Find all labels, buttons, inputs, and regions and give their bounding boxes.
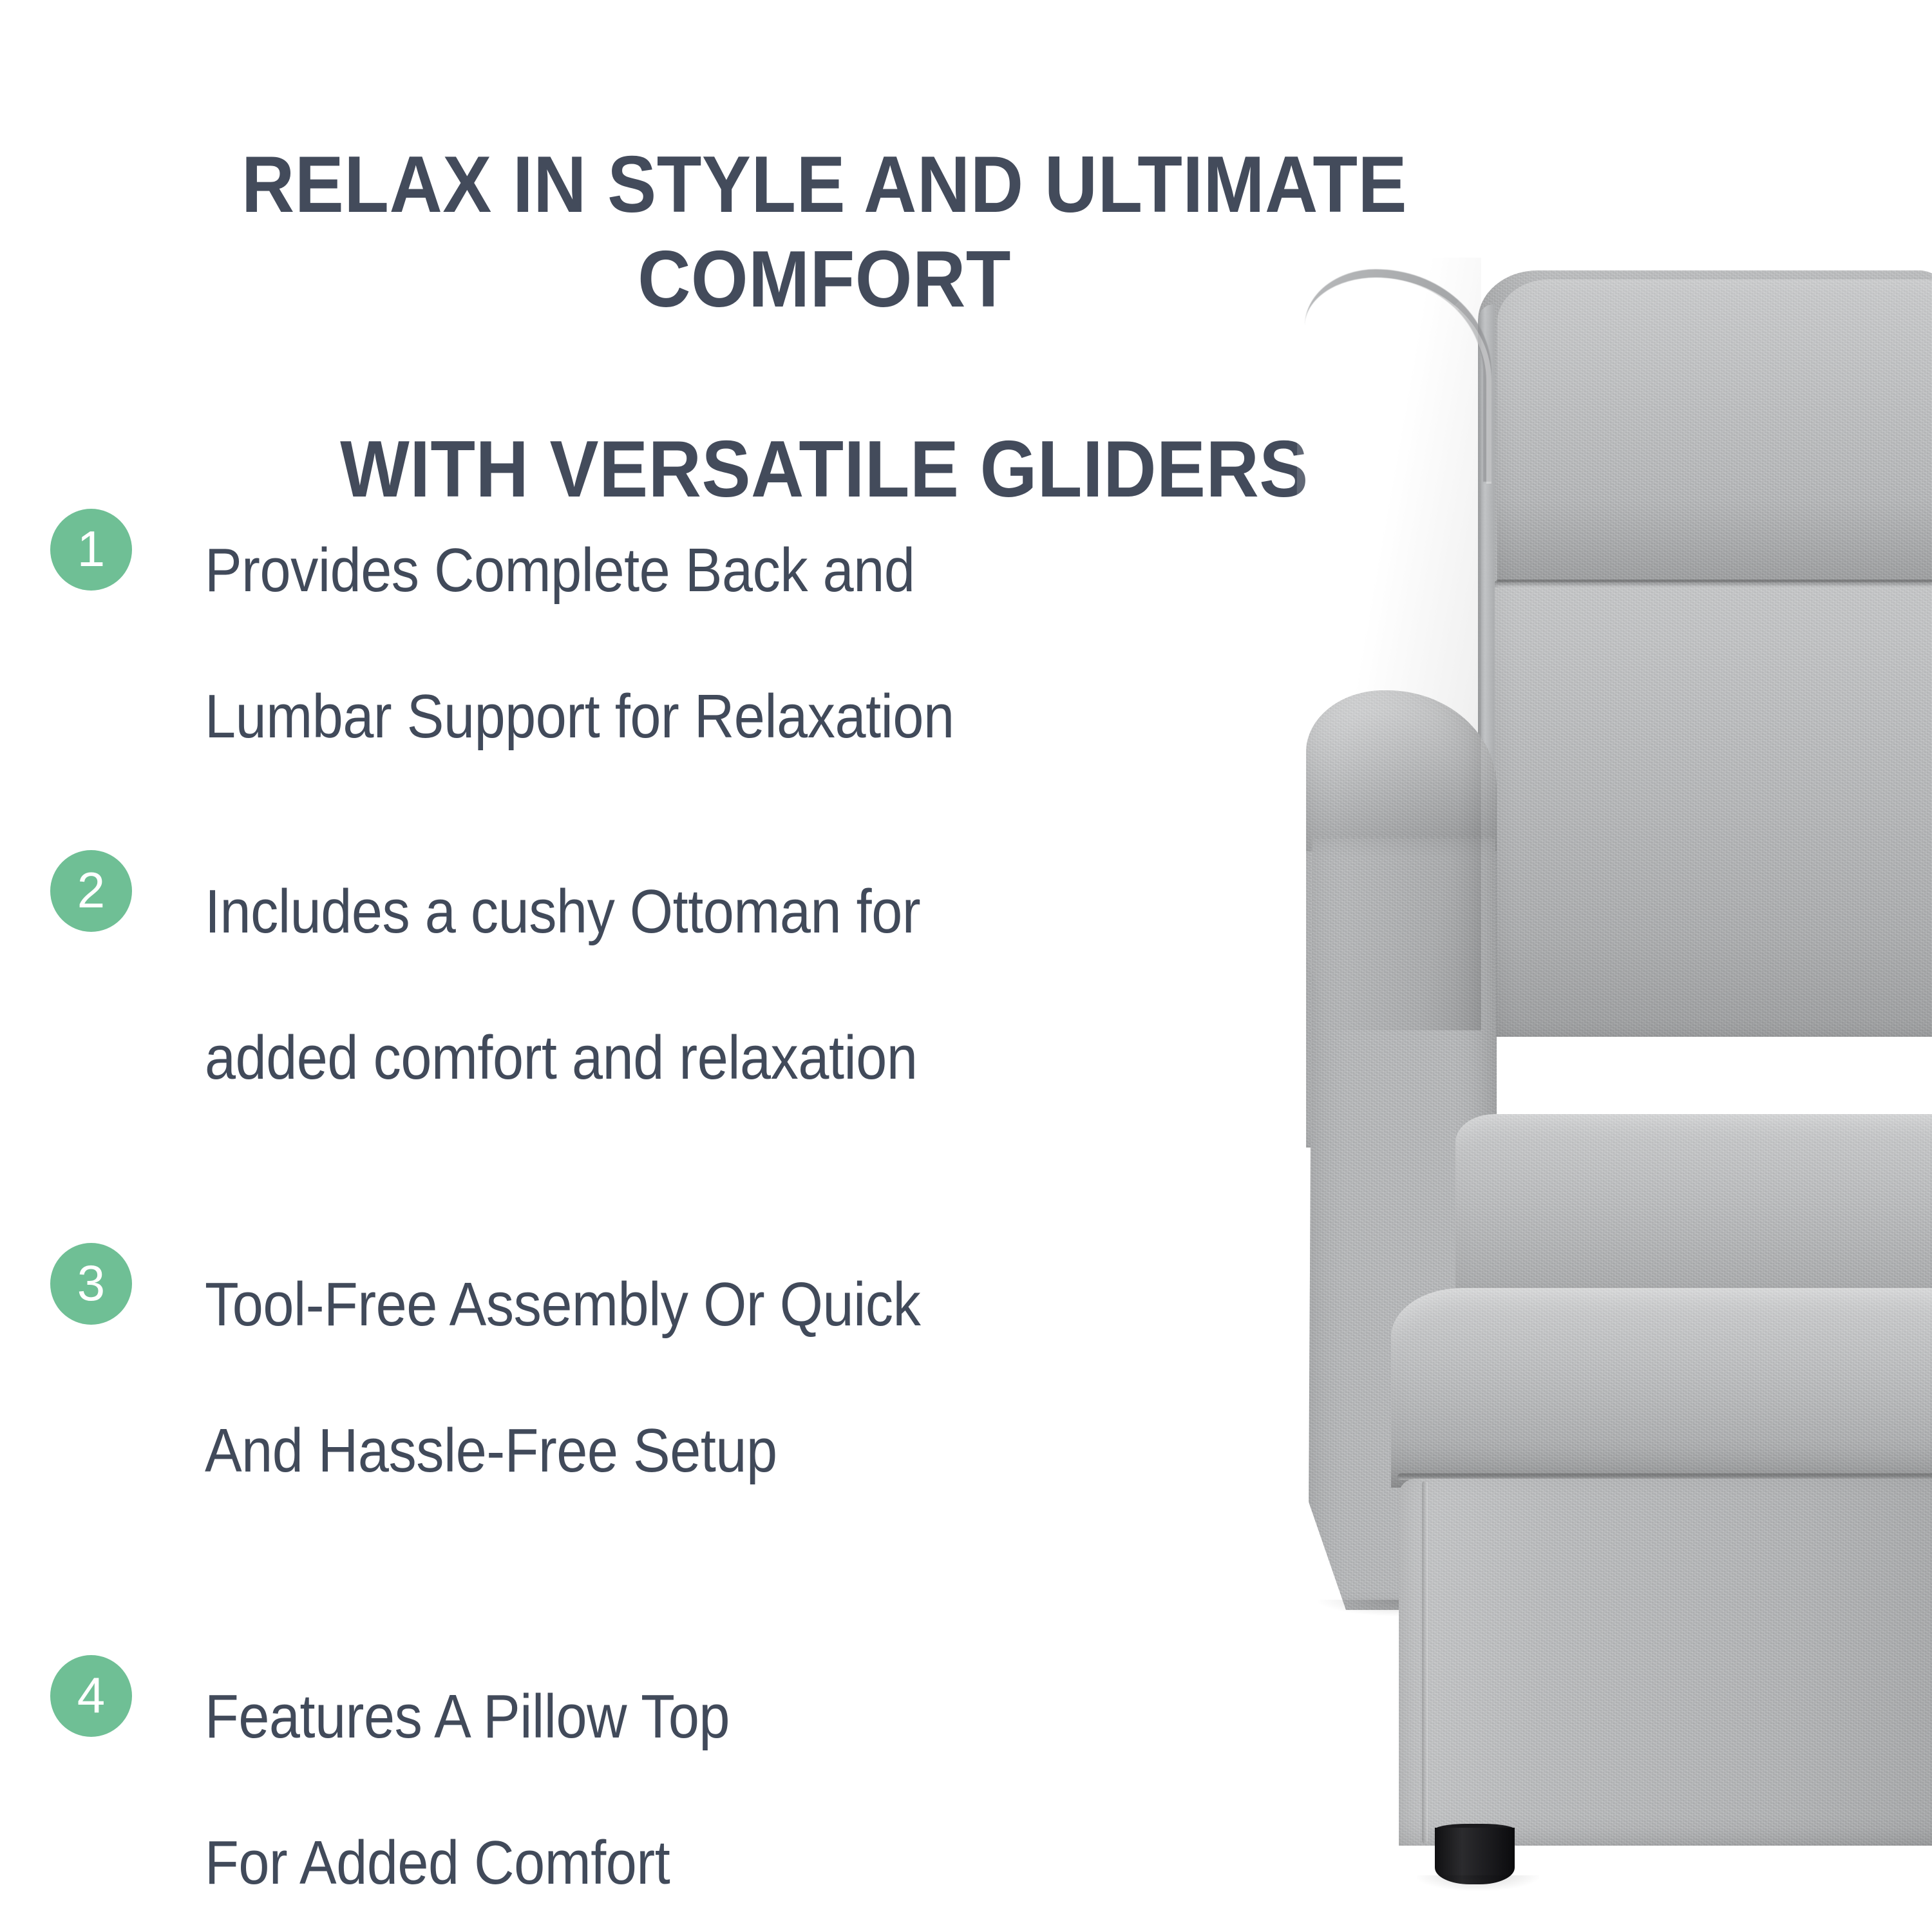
ottoman-base-shading bbox=[1399, 1479, 1932, 1846]
ottoman-fabric-crease bbox=[1422, 1481, 1428, 1843]
feature-text-line-1: Provides Complete Back and bbox=[205, 534, 1190, 607]
infographic-canvas: RELAX IN STYLE AND ULTIMATE COMFORT WITH… bbox=[0, 0, 1932, 1932]
chair-head-pillow bbox=[1497, 279, 1932, 582]
ottoman-top-shading bbox=[1391, 1288, 1932, 1488]
feature-text-line-2: For Added Comfort bbox=[205, 1826, 1190, 1899]
feature-text-line-2: And Hassle-Free Setup bbox=[205, 1414, 1190, 1487]
status-badge: 4 bbox=[50, 1655, 132, 1737]
feature-text: Includes a cushy Ottoman for added comfo… bbox=[205, 802, 1190, 1167]
feature-text-line-2: added comfort and relaxation bbox=[205, 1021, 1190, 1094]
status-badge: 1 bbox=[50, 509, 132, 591]
feature-text-line-2: Lumbar Support for Relaxation bbox=[205, 680, 1190, 753]
chair-backrest-seam bbox=[1495, 580, 1932, 587]
status-badge: 3 bbox=[50, 1243, 132, 1325]
product-photo-glider-chair bbox=[1294, 258, 1932, 1880]
ottoman-leg-shadow bbox=[1417, 1875, 1539, 1891]
chair-lumbar-section bbox=[1495, 587, 1932, 1037]
status-badge: 2 bbox=[50, 850, 132, 932]
feature-list: 1 Provides Complete Back and Lumbar Supp… bbox=[0, 0, 1320, 1932]
chair-backrest bbox=[1478, 270, 1932, 1037]
ottoman-pillow-top bbox=[1391, 1288, 1932, 1488]
chair-arm-side-panel-shading bbox=[1294, 258, 1481, 1030]
feature-text: Provides Complete Back and Lumbar Suppor… bbox=[205, 461, 1190, 826]
feature-text: Tool-Free Assembly Or Quick And Hassle-F… bbox=[205, 1195, 1190, 1560]
feature-text-line-1: Features A Pillow Top bbox=[205, 1680, 1190, 1753]
feature-text-line-1: Includes a cushy Ottoman for bbox=[205, 875, 1190, 948]
ottoman-base bbox=[1399, 1479, 1932, 1846]
feature-text: Features A Pillow Top For Added Comfort bbox=[205, 1607, 1190, 1932]
feature-text-line-1: Tool-Free Assembly Or Quick bbox=[205, 1268, 1190, 1341]
